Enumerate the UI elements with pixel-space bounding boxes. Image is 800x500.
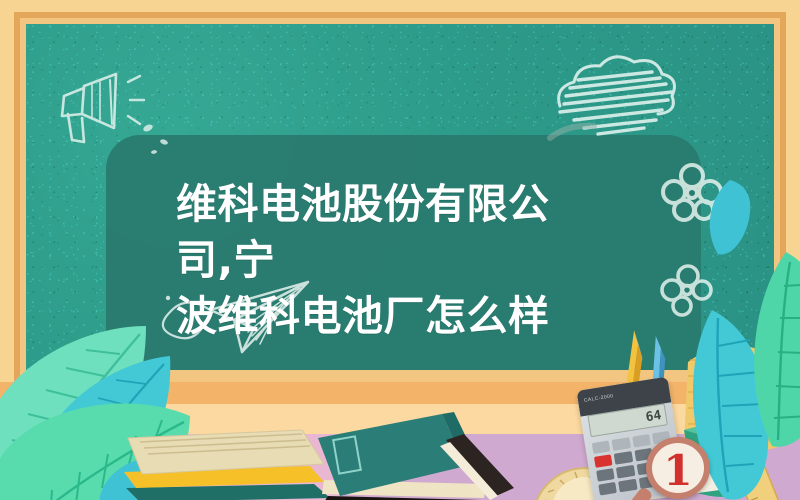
banner-illustration: 维科电池股份有限公司,宁 波维科电池厂怎么样 [0,0,800,500]
headline-line-2: 波维科电池厂怎么样 [176,288,586,344]
leaf-green-right [742,250,800,455]
calculator-key-clear[interactable] [594,454,613,468]
calculator-key[interactable] [598,482,617,496]
calculator-key[interactable] [618,479,637,493]
calculator-key[interactable] [616,465,635,479]
leaf-small-right [700,178,760,263]
calculator-key[interactable] [614,451,633,465]
magnified-number: 1 [652,445,704,497]
headline-line-1: 维科电池股份有限公司,宁 [176,176,586,288]
calculator-key[interactable] [596,468,615,482]
calculator-key[interactable] [612,437,631,451]
book-stack-center [300,404,530,500]
magnifying-glass: 1 [646,437,710,499]
calculator-key[interactable] [632,434,651,448]
page-title: 维科电池股份有限公司,宁 波维科电池厂怎么样 [176,176,586,344]
calculator-key[interactable] [592,440,611,454]
calculator-display-value: 64 [645,408,663,425]
